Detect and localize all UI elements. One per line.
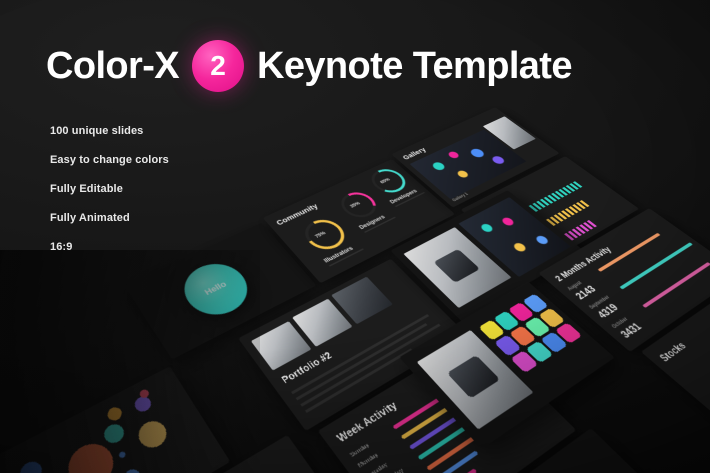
cover-bubble xyxy=(105,405,124,423)
week-bar xyxy=(444,468,477,473)
page-title: Color-X 2 Keynote Template xyxy=(46,40,572,92)
version-badge: 2 xyxy=(192,40,244,92)
week-bar xyxy=(418,416,483,461)
product-showcase: Color-X 2 Keynote Template 100 unique sl… xyxy=(0,0,710,473)
cover-bubble xyxy=(62,436,121,473)
week-day-label: Wednesday xyxy=(374,468,406,473)
title-word-one: Color-X xyxy=(46,47,179,85)
feature-item: 100 unique slides xyxy=(50,125,169,137)
version-badge-number: 2 xyxy=(210,52,226,80)
cover-bubble xyxy=(122,467,144,473)
cover-bubble xyxy=(101,421,127,446)
feature-list: 100 unique slides Easy to change colors … xyxy=(50,125,169,270)
week-day-label: Tuesday xyxy=(365,462,389,473)
hello-label: Hello xyxy=(203,280,228,297)
slide-cover[interactable]: Color-X 2 xyxy=(0,366,230,473)
feature-item: Easy to change colors xyxy=(50,154,169,166)
cover-bubble xyxy=(17,458,45,473)
feature-item: Fully Animated xyxy=(50,212,169,224)
slide-stocks-title: Stocks xyxy=(658,340,690,364)
feature-item: 16:9 xyxy=(50,241,169,253)
week-day-label: Sunday xyxy=(349,442,371,458)
title-word-two: Keynote Template xyxy=(257,47,572,85)
cover-bubble xyxy=(118,451,126,459)
hello-circle: Hello xyxy=(173,255,259,324)
week-bar xyxy=(435,450,478,473)
feature-item: Fully Editable xyxy=(50,183,169,195)
cover-bubble xyxy=(134,417,171,453)
week-day-label: Monday xyxy=(357,452,380,469)
